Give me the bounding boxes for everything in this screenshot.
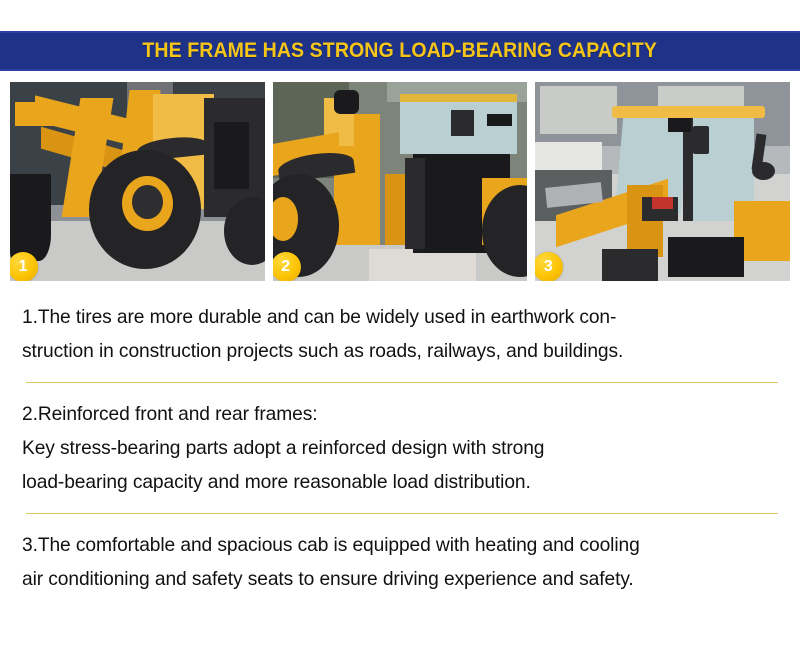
paragraph-line: 2.Reinforced front and rear frames: bbox=[22, 397, 771, 431]
header-banner: THE FRAME HAS STRONG LOAD-BEARING CAPACI… bbox=[0, 31, 800, 71]
product-feature-panel: THE FRAME HAS STRONG LOAD-BEARING CAPACI… bbox=[0, 0, 800, 649]
loader-tire-photo bbox=[10, 82, 265, 281]
paragraph-line: 1.The tires are more durable and can be … bbox=[22, 300, 771, 334]
page-title: THE FRAME HAS STRONG LOAD-BEARING CAPACI… bbox=[143, 39, 658, 63]
feature-paragraph-cab: 3.The comfortable and spacious cab is eq… bbox=[22, 528, 771, 596]
paragraph-line: air conditioning and safety seats to ens… bbox=[22, 562, 771, 596]
gallery-image-1[interactable]: 1 bbox=[10, 82, 265, 281]
paragraph-line: 3.The comfortable and spacious cab is eq… bbox=[22, 528, 771, 562]
image-badge-2: 2 bbox=[273, 252, 301, 281]
gallery-image-2[interactable]: 2 bbox=[273, 82, 528, 281]
section-divider bbox=[26, 513, 778, 514]
operator-cab-photo bbox=[535, 82, 790, 281]
loader-frame-photo bbox=[273, 82, 528, 281]
image-badge-3: 3 bbox=[535, 252, 563, 281]
section-divider bbox=[26, 382, 778, 383]
paragraph-line: load-bearing capacity and more reasonabl… bbox=[22, 465, 771, 499]
paragraph-line: struction in construction projects such … bbox=[22, 334, 771, 368]
paragraph-line: Key stress-bearing parts adopt a reinfor… bbox=[22, 431, 771, 465]
image-badge-1: 1 bbox=[10, 252, 38, 281]
image-gallery: 1 bbox=[10, 82, 790, 281]
gallery-image-3[interactable]: 3 bbox=[535, 82, 790, 281]
feature-description-list: 1.The tires are more durable and can be … bbox=[22, 300, 782, 596]
feature-paragraph-frames: 2.Reinforced front and rear frames: Key … bbox=[22, 397, 771, 499]
feature-paragraph-tires: 1.The tires are more durable and can be … bbox=[22, 300, 771, 368]
